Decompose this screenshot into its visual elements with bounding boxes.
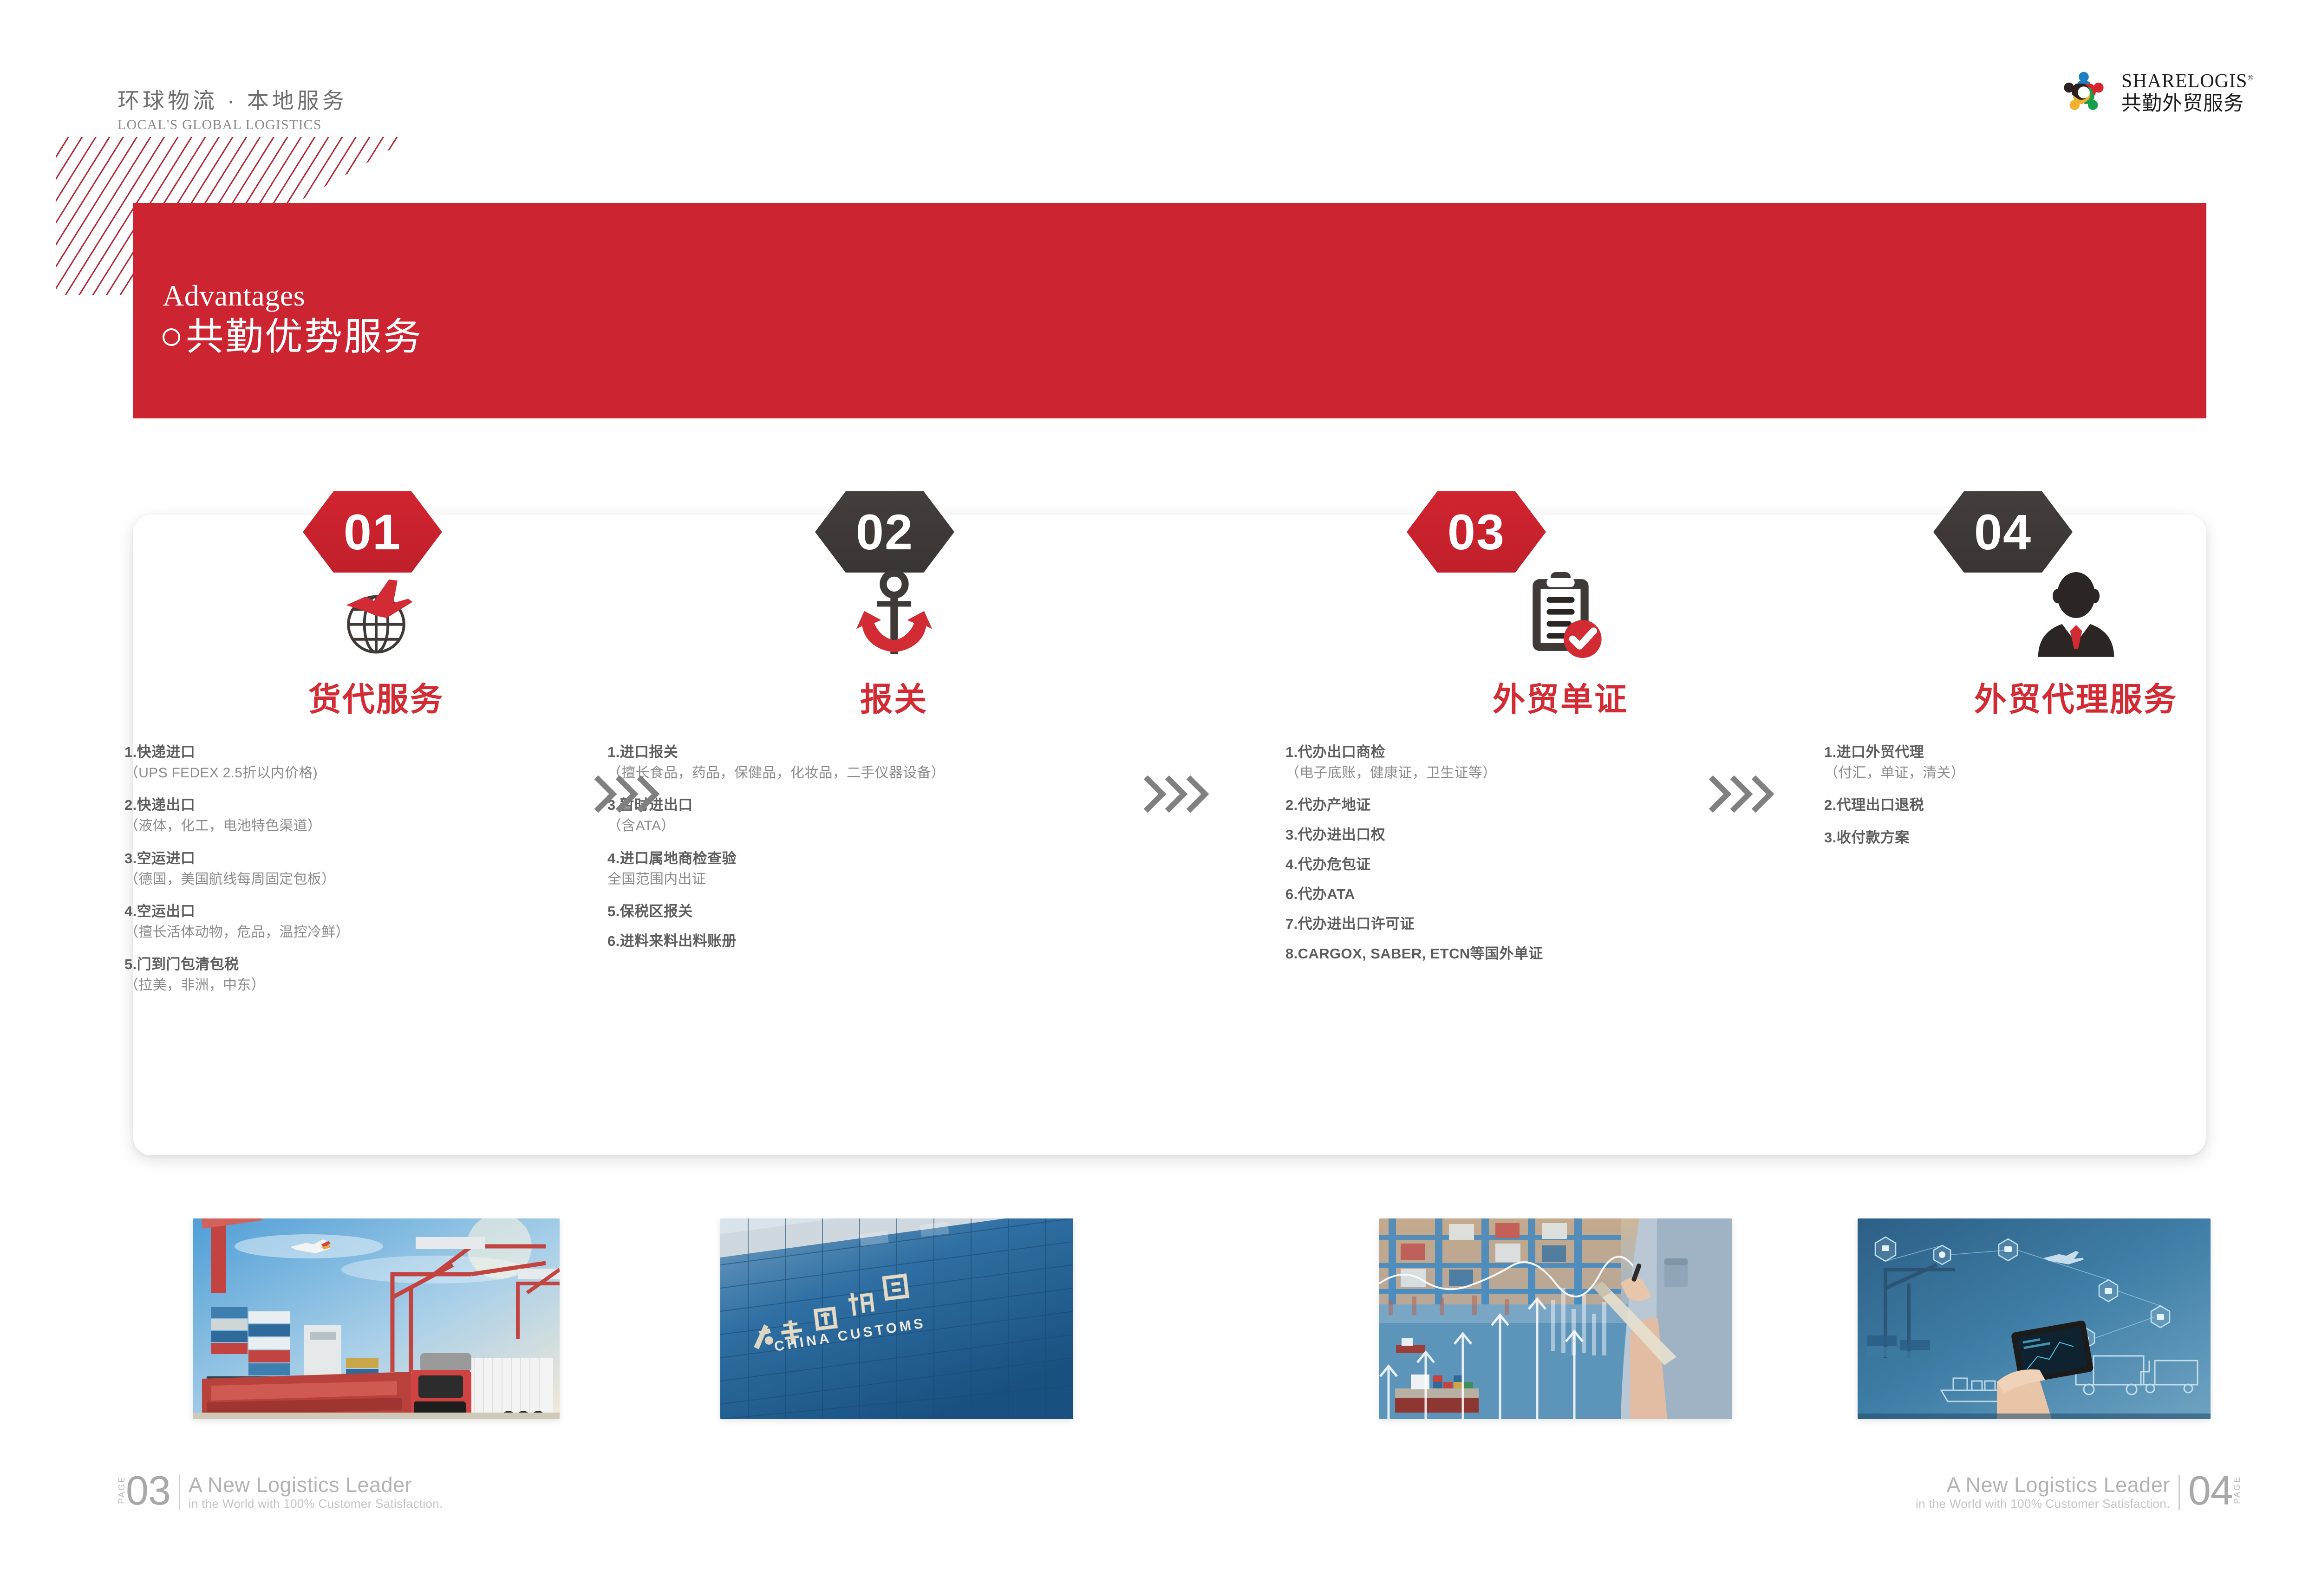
logo-wordmark: SHARELOGIS® [2121,72,2254,91]
item-main: 1.进口报关 [607,743,1184,762]
triple-chevron-right-icon [1140,771,1214,817]
item-sub: （含ATA） [607,817,1184,836]
ring-bullet-icon [163,328,180,346]
photo-china-customs-building: CHINA CUSTOMS [720,1218,1073,1419]
footer-tagline-line2-left: in the World with 100% Customer Satisfac… [189,1498,443,1510]
section-banner: Advantages 共勤优势服务 [133,203,2206,418]
businessman-icon [1820,515,2322,668]
column-title-4: 外贸代理服务 [1820,673,2322,720]
item-main: 2.代理出口退税 [1824,795,2322,815]
airplane-globe-icon [121,515,632,668]
section-title-cn: 共勤优势服务 [186,317,423,357]
advantage-column-1[interactable]: 货代服务 1.快递进口 （UPS FEDEX 2.5折以内价格) 2.快递出口 … [121,515,632,1008]
list-item: 1.快递进口 （UPS FEDEX 2.5折以内价格) [124,743,632,782]
list-item: 7.代办进出口许可证 [1285,914,1839,934]
item-main: 4.代办危包证 [1285,855,1839,874]
footer-divider-left [179,1475,180,1510]
section-title-cn-row: 共勤优势服务 [163,317,423,357]
item-main: 5.保税区报关 [607,902,1184,921]
item-main: 6.代办ATA [1285,885,1839,904]
item-sub: （擅长活体动物，危品，温控冷鲜） [124,923,632,942]
item-main: 1.代办出口商检 [1285,743,1839,762]
anchor-icon [604,515,1184,668]
item-sub: 全国范围内出证 [607,870,1184,889]
photo-port-crane-truck-plane [193,1218,560,1419]
list-item: 4.进口属地商检查验 全国范围内出证 [607,849,1184,889]
item-sub: （UPS FEDEX 2.5折以内价格) [124,764,632,783]
list-item: 3.代办进出口权 [1285,825,1839,845]
list-item: 4.代办危包证 [1285,855,1839,874]
page-label-left: PAGE [117,1476,126,1504]
list-item: 5.门到门包清包税 （拉美，非洲，中东） [124,955,632,995]
item-sub: （拉美，非洲，中东） [124,976,632,995]
list-item: 1.进口外贸代理 （付汇，单证，清关） [1824,743,2322,782]
clipboard-check-icon [1282,515,1839,668]
item-main: 5.门到门包清包税 [124,955,632,974]
list-item: 2.快递出口 （液体，化工，电池特色渠道） [124,795,632,835]
registered-mark-icon: ® [2247,73,2254,82]
list-item: 6.进料来料出料账册 [607,932,1184,951]
page-number-right: 04 [2188,1473,2233,1508]
list-item: 3.空运进口 （德国，美国航线每周固定包板） [124,849,632,889]
list-item: 4.空运出口 （擅长活体动物，危品，温控冷鲜） [124,902,632,942]
item-main: 7.代办进出口许可证 [1285,914,1839,934]
list-item: 8.CARGOX, SABER, ETCN等国外单证 [1285,944,1839,964]
column-items-2: 1.进口报关 （擅长食品，药品，保健品，化妆品，二手仪器设备） 3.暂时进出口 … [604,743,1184,951]
column-title-3: 外贸单证 [1282,673,1839,720]
advantage-column-4[interactable]: 外贸代理服务 1.进口外贸代理 （付汇，单证，清关） 2.代理出口退税 3.收付… [1820,515,2322,860]
footer-right: A New Logistics Leader in the World with… [1916,1473,2241,1511]
footer-divider-right [2179,1475,2180,1510]
item-main: 8.CARGOX, SABER, ETCN等国外单证 [1285,944,1839,964]
advantage-column-2[interactable]: 报关 1.进口报关 （擅长食品，药品，保健品，化妆品，二手仪器设备） 3.暂时进… [604,515,1184,961]
item-main: 3.空运进口 [124,849,632,868]
column-title-1: 货代服务 [121,673,632,720]
item-main: 1.快递进口 [124,743,632,762]
footer-tagline-line1-right: A New Logistics Leader [1946,1474,2170,1496]
list-item: 2.代理出口退税 [1824,795,2322,815]
item-sub: （擅长食品，药品，保健品，化妆品，二手仪器设备） [607,764,1184,783]
item-sub: （液体，化工，电池特色渠道） [124,817,632,836]
item-sub: （付汇，单证，清关） [1824,764,2322,783]
list-item: 3.收付款方案 [1824,828,2322,847]
photo-inspector-clipboard-port [1379,1218,1732,1419]
page-number-left: 03 [126,1473,170,1508]
column-title-2: 报关 [604,673,1184,720]
item-main: 1.进口外贸代理 [1824,743,2322,762]
item-main: 3.收付款方案 [1824,828,2322,847]
item-main: 6.进料来料出料账册 [607,932,1184,951]
item-main: 2.快递出口 [124,795,632,815]
logo-chinese-name: 共勤外贸服务 [2121,94,2254,114]
brand-chinese-tagline: 环球物流 · 本地服务 [117,83,347,115]
page-label-right: PAGE [2233,1476,2241,1504]
list-item: 6.代办ATA [1285,885,1839,904]
advantage-column-3[interactable]: 外贸单证 1.代办出口商检 （电子底账，健康证，卫生证等） 2.代办产地证 3.… [1282,515,1839,973]
item-main: 4.进口属地商检查验 [607,849,1184,868]
column-items-4: 1.进口外贸代理 （付汇，单证，清关） 2.代理出口退税 3.收付款方案 [1820,743,2322,847]
triple-chevron-right-icon [1705,771,1780,817]
item-sub: （德国，美国航线每周固定包板） [124,870,632,889]
list-item: 3.暂时进出口 （含ATA） [607,795,1184,835]
footer-tagline-line1-left: A New Logistics Leader [189,1474,443,1496]
slide-page: 环球物流 · 本地服务 LOCAL'S GLOBAL LOGISTICS [0,0,2322,1596]
photo-tablet-digital-logistics [1858,1218,2211,1419]
company-logo: SHARELOGIS® 共勤外贸服务 [2056,65,2254,120]
brand-english-tagline: LOCAL'S GLOBAL LOGISTICS [117,117,347,133]
item-main: 3.代办进出口权 [1285,825,1839,845]
triple-chevron-right-icon [591,771,665,817]
column-items-1: 1.快递进口 （UPS FEDEX 2.5折以内价格) 2.快递出口 （液体，化… [121,743,632,995]
footer-tagline-line2-right: in the World with 100% Customer Satisfac… [1916,1498,2170,1510]
brand-lockup: 环球物流 · 本地服务 LOCAL'S GLOBAL LOGISTICS [117,83,347,133]
item-main: 3.暂时进出口 [607,795,1184,815]
footer-left: PAGE 03 A New Logistics Leader in the Wo… [117,1473,443,1511]
section-title-en: Advantages [163,281,423,311]
logo-name-text: SHARELOGIS [2121,71,2247,92]
list-item: 5.保税区报关 [607,902,1184,921]
list-item: 1.进口报关 （擅长食品，药品，保健品，化妆品，二手仪器设备） [607,743,1184,782]
people-circle-logo-icon [2056,65,2111,120]
item-main: 4.空运出口 [124,902,632,921]
